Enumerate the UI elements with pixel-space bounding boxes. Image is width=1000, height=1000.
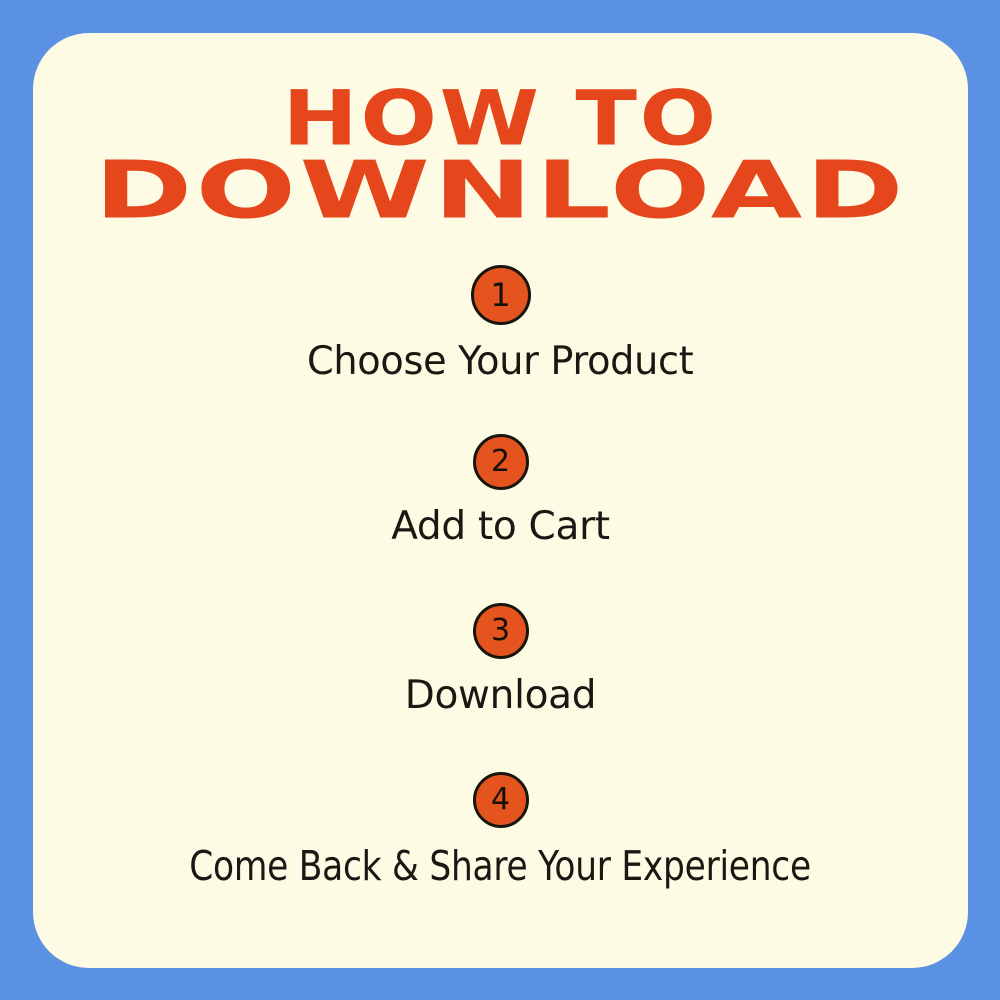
step-item-4: 4 Come Back & Share Your Experience [33, 772, 968, 941]
step-item-2: 2 Add to Cart [33, 434, 968, 603]
step-number-3: 3 [491, 616, 510, 646]
title-line-2: DOWNLOAD [33, 154, 968, 228]
step-label-4: Come Back & Share Your Experience [190, 844, 812, 889]
step-label-2: Add to Cart [391, 506, 610, 549]
step-item-1: 1 Choose Your Product [33, 265, 968, 434]
step-number-badge-4: 4 [473, 772, 529, 828]
poster-canvas: HOW TO DOWNLOAD 1 Choose Your Product 2 … [0, 0, 1000, 1000]
steps-list: 1 Choose Your Product 2 Add to Cart 3 Do… [33, 265, 968, 941]
instruction-card: HOW TO DOWNLOAD 1 Choose Your Product 2 … [33, 33, 968, 968]
page-title: HOW TO DOWNLOAD [33, 85, 968, 226]
step-number-1: 1 [490, 279, 510, 311]
step-number-badge-2: 2 [473, 434, 529, 490]
step-item-3: 3 Download [33, 603, 968, 772]
step-number-4: 4 [491, 785, 510, 815]
step-number-badge-3: 3 [473, 603, 529, 659]
step-number-2: 2 [491, 447, 510, 477]
step-number-badge-1: 1 [471, 265, 531, 325]
step-label-1: Choose Your Product [307, 341, 694, 384]
step-label-3: Download [405, 675, 596, 718]
